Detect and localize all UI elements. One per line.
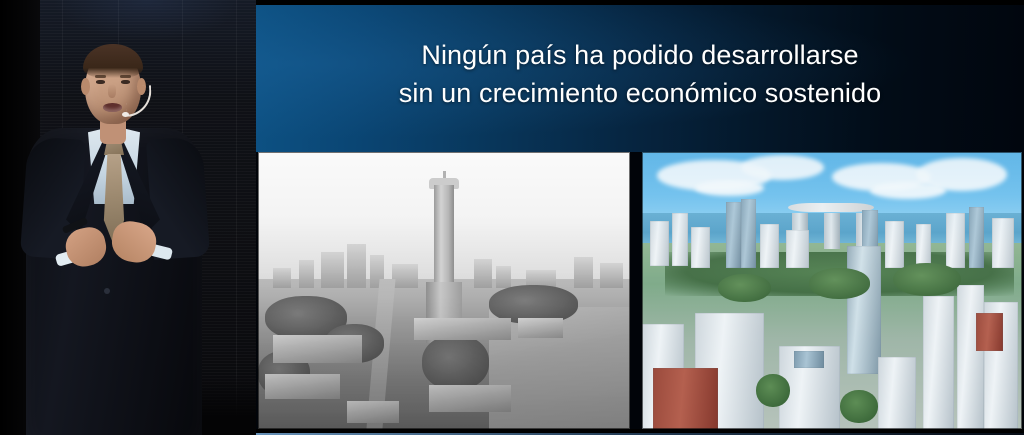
presenter-video-pane — [0, 0, 256, 435]
historical-city-photo — [258, 152, 630, 429]
presenter-eye-left — [96, 80, 105, 84]
presenter-eye-right — [121, 80, 130, 84]
color-photo-atmosphere — [642, 152, 1022, 429]
presenter-nose — [108, 84, 116, 98]
projected-slide: Ningún país ha podido desarrollarse sin … — [256, 0, 1024, 435]
presenter-jacket-button — [104, 288, 110, 294]
presenter-eyebrow-right — [120, 75, 131, 78]
presentation-screenshot: Ningún país ha podido desarrollarse sin … — [0, 0, 1024, 435]
bw-photo-vignette — [258, 152, 630, 429]
slide-top-letterbox — [256, 0, 1024, 5]
presenter-hair — [83, 44, 143, 78]
slide-title: Ningún país ha podido desarrollarse sin … — [256, 36, 1024, 112]
presenter-mouth — [103, 103, 122, 112]
microphone-capsule-icon — [122, 112, 129, 117]
presenter-figure — [0, 0, 256, 435]
presenter-eyebrow-left — [95, 75, 106, 78]
modern-city-photo — [642, 152, 1022, 429]
slide-image-row — [256, 152, 1024, 435]
presenter-ear-left — [81, 78, 90, 95]
headset-microphone-icon — [125, 85, 153, 117]
bw-photo-base — [258, 152, 630, 429]
